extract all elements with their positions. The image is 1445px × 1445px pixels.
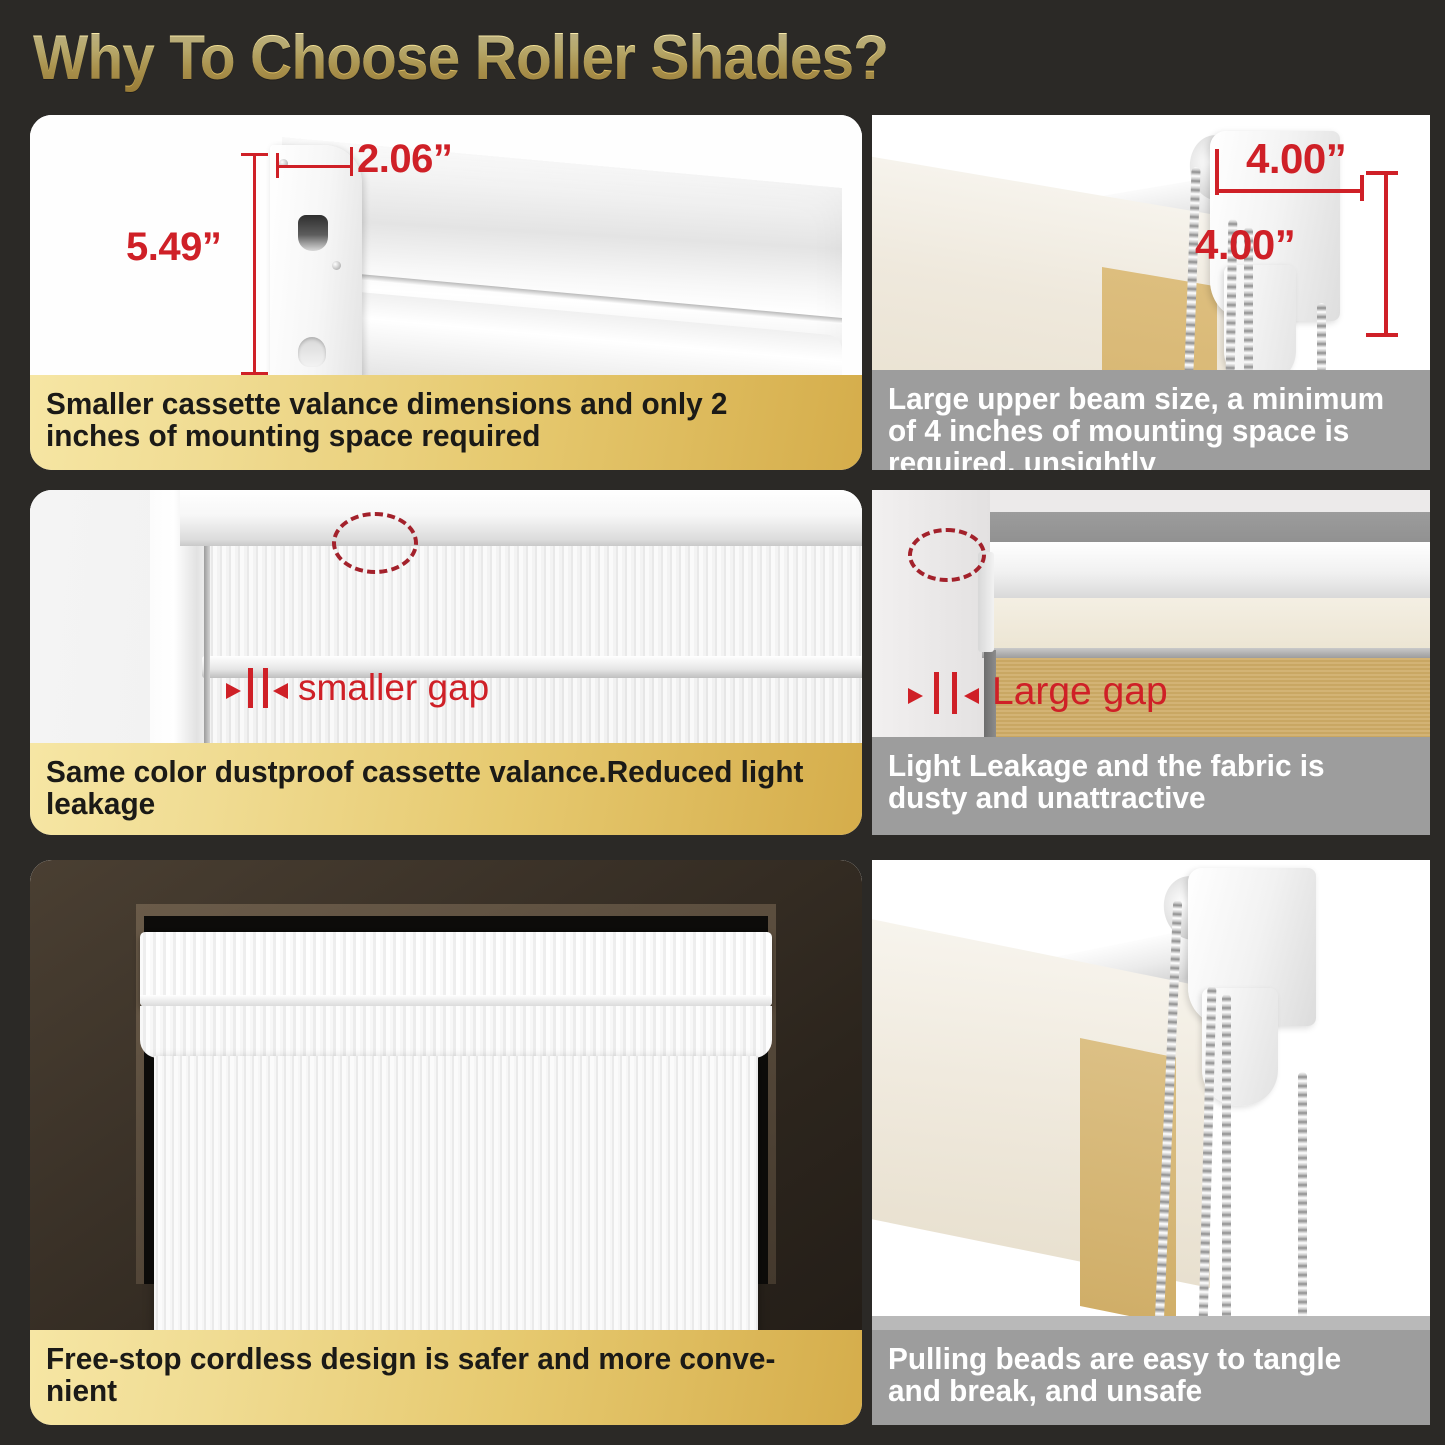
- panel-light-leakage-dusty-fabric: Large gap Light Leakage and the fabric i…: [872, 490, 1430, 835]
- caption-bar: Same color dustproof cassette valance.Re…: [30, 743, 862, 835]
- beam-height-tick-top: [1366, 171, 1398, 175]
- caption-bar: Large upper beam size, a minimum of 4 in…: [872, 370, 1430, 470]
- beam-bottom-rail: [982, 648, 1430, 658]
- caption-text: Large upper beam size, a minimum of 4 in…: [888, 383, 1393, 470]
- gap-arrow-right-icon: [908, 688, 923, 704]
- upper-beam: [990, 542, 1430, 600]
- gap-marker-right: [952, 672, 957, 714]
- width-dimension-label: 2.06”: [357, 137, 452, 182]
- photo-footer-band: [872, 1316, 1430, 1330]
- panel-free-stop-cordless-design: Free-stop cordless design is safer and m…: [30, 860, 862, 1425]
- beam-width-tick-right: [1360, 175, 1364, 201]
- beam-height-label: 4.00”: [1195, 221, 1295, 269]
- beam-height-dimension-line: [1384, 171, 1388, 337]
- caption-text: Same color dustproof cassette valance.Re…: [46, 756, 814, 820]
- beam-lower-face: [990, 598, 1430, 650]
- cassette-valance: [140, 932, 772, 1007]
- height-dimension-label: 5.49”: [126, 225, 221, 270]
- valance-screw-boss: [298, 337, 326, 367]
- gap-marker-left: [248, 668, 253, 708]
- gap-arrow-left-icon: [273, 683, 288, 699]
- roller-shade-fabric: [154, 1056, 758, 1330]
- highlight-ellipse-icon: [332, 512, 418, 574]
- panel-cassette-valance-dimensions: 5.49” 2.06” Smaller cassette valance dim…: [30, 115, 862, 470]
- beam-width-label: 4.00”: [1246, 135, 1346, 183]
- gap-label: Large gap: [992, 670, 1168, 714]
- bead-chain: [1317, 303, 1326, 373]
- panel-dustproof-cassette-valance: smaller gap Same color dustproof cassett…: [30, 490, 862, 835]
- window-head-moulding: [180, 490, 862, 546]
- valance-front-lip: [140, 1006, 772, 1058]
- beam-width-tick-left: [1215, 149, 1219, 195]
- beam-height-tick-bottom: [1366, 333, 1398, 337]
- width-dimension-line: [277, 165, 352, 168]
- photo-room-scene: [30, 860, 862, 1330]
- height-dimension-tick-top: [241, 153, 268, 156]
- beam-width-dimension-line: [1216, 189, 1364, 193]
- panel-pulling-beads-unsafe: Pulling beads are easy to tangle and bre…: [872, 860, 1430, 1425]
- caption-bar: Pulling beads are easy to tangle and bre…: [872, 1330, 1430, 1425]
- gap-marker-right: [263, 668, 268, 708]
- panel-large-upper-beam: 4.00” 4.00” Large upper beam size, a min…: [872, 115, 1430, 470]
- width-dimension-tick-right: [350, 147, 353, 176]
- gap-marker-left: [934, 672, 939, 714]
- width-dimension-tick-left: [276, 153, 279, 178]
- caption-text: Smaller cassette valance dimensions and …: [46, 388, 814, 452]
- caption-bar: Free-stop cordless design is safer and m…: [30, 1330, 862, 1425]
- title-bar: Why To Choose Roller Shades?: [0, 0, 1445, 112]
- caption-text: Free-stop cordless design is safer and m…: [46, 1343, 814, 1407]
- gap-label: smaller gap: [298, 667, 489, 709]
- photo-window-smaller-gap: smaller gap: [30, 490, 862, 743]
- page-title: Why To Choose Roller Shades?: [33, 22, 888, 94]
- gap-arrow-left-icon: [964, 688, 979, 704]
- shade-fabric-back-tan: [1102, 267, 1217, 373]
- highlight-ellipse-icon: [908, 528, 986, 582]
- photo-cassette-valance-profile: 5.49” 2.06”: [30, 115, 862, 375]
- photo-large-upper-beam: 4.00” 4.00”: [872, 115, 1430, 373]
- gap-arrow-right-icon: [226, 683, 241, 699]
- caption-bar: Light Leakage and the fabric is dusty an…: [872, 737, 1430, 835]
- bead-chain: [1298, 1072, 1307, 1326]
- caption-bar: Smaller cassette valance dimensions and …: [30, 375, 862, 470]
- screw-icon: [332, 261, 341, 270]
- shade-upper-section: [208, 546, 862, 658]
- bead-chain: [1222, 994, 1231, 1326]
- height-dimension-line: [253, 153, 256, 375]
- caption-text: Pulling beads are easy to tangle and bre…: [888, 1343, 1393, 1407]
- shade-left-edge: [204, 546, 210, 743]
- photo-bead-chain-shade: [872, 860, 1430, 1330]
- caption-text: Light Leakage and the fabric is dusty an…: [888, 750, 1393, 814]
- infographic-page: Why To Choose Roller Shades? 5.49” 2.06”…: [0, 0, 1445, 1445]
- photo-window-large-gap: Large gap: [872, 490, 1430, 737]
- valance-bracket-slot: [298, 215, 328, 251]
